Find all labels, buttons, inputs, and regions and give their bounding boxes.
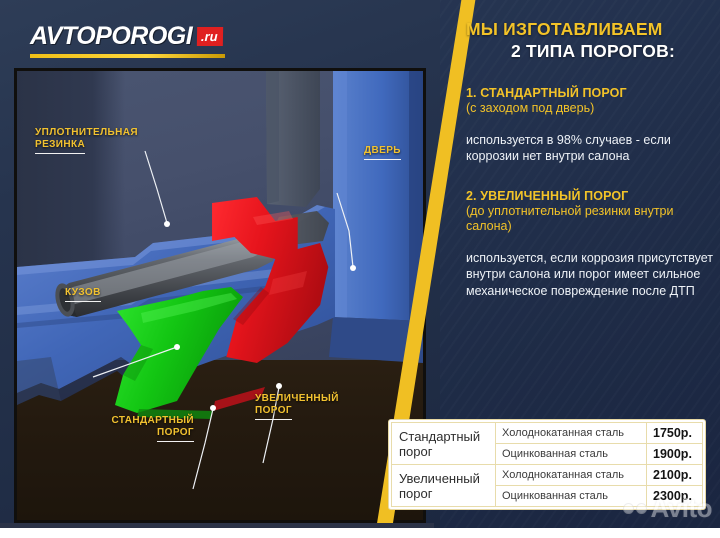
section-extended-title: 2. УВЕЛИЧЕННЫЙ ПОРОГ [466, 189, 720, 203]
brand-logo[interactable]: AVTOPOROGI .ru [30, 22, 225, 58]
logo-wordmark: AVTOPOROGI [30, 22, 192, 51]
price-steel-3: Оцинкованная сталь [496, 486, 647, 507]
price-table: Стандартный порог Холоднокатанная сталь … [391, 422, 703, 507]
price-value-3: 2300р. [647, 486, 703, 507]
label-standard-sill: СТАНДАРТНЫЙ ПОРОГ [79, 415, 194, 523]
section-standard: 1. СТАНДАРТНЫЙ ПОРОГ (с заходом под двер… [466, 86, 720, 165]
price-type-standard: Стандартный порог [392, 423, 496, 465]
section-extended: 2. УВЕЛИЧЕННЫЙ ПОРОГ (до уплотнительной … [466, 189, 720, 300]
price-type-extended: Увеличенный порог [392, 465, 496, 507]
label-extended-sill-line2: ПОРОГ [255, 405, 292, 420]
price-steel-0: Холоднокатанная сталь [496, 423, 647, 444]
label-body-text: КУЗОВ [65, 287, 101, 302]
section-standard-subtitle: (с заходом под дверь) [466, 101, 720, 117]
illustration-panel: AVTOPOROGI .ru [0, 0, 440, 538]
section-extended-body: используется, если коррозия присутствует… [466, 250, 720, 300]
label-extended-sill: УВЕЛИЧЕННЫЙ ПОРОГ [255, 393, 339, 420]
panel-heading-line1: МЫ ИЗГОТАВЛИВАЕМ [466, 19, 663, 39]
panel-heading: МЫ ИЗГОТАВЛИВАЕМ 2 ТИПА ПОРОГОВ: [466, 18, 720, 62]
diagram-frame: УПЛОТНИТЕЛЬНАЯ РЕЗИНКА КУЗОВ ДВЕРЬ СТАНД… [14, 68, 426, 523]
table-row: Стандартный порог Холоднокатанная сталь … [392, 423, 703, 444]
section-standard-title: 1. СТАНДАРТНЫЙ ПОРОГ [466, 86, 720, 100]
label-seal-rubber-line2: РЕЗИНКА [35, 139, 85, 154]
label-seal-rubber: УПЛОТНИТЕЛЬНАЯ РЕЗИНКА [35, 127, 138, 154]
label-standard-sill-line2: ПОРОГ [157, 427, 194, 442]
label-door-text: ДВЕРЬ [364, 145, 401, 160]
label-extended-sill-line1: УВЕЛИЧЕННЫЙ [255, 393, 339, 404]
price-steel-2: Холоднокатанная сталь [496, 465, 647, 486]
table-row: Увеличенный порог Холоднокатанная сталь … [392, 465, 703, 486]
section-extended-subtitle: (до уплотнительной резинки внутри салона… [466, 204, 720, 235]
poster-root: AVTOPOROGI .ru [0, 0, 720, 538]
logo-underline-bar [30, 54, 225, 58]
label-body: КУЗОВ [65, 287, 101, 302]
price-table-wrapper: Стандартный порог Холоднокатанная сталь … [388, 419, 706, 510]
price-value-1: 1900р. [647, 444, 703, 465]
label-door: ДВЕРЬ [364, 145, 401, 160]
price-steel-1: Оцинкованная сталь [496, 444, 647, 465]
label-seal-rubber-line1: УПЛОТНИТЕЛЬНАЯ [35, 127, 138, 138]
logo-row: AVTOPOROGI .ru [30, 22, 225, 51]
price-value-0: 1750р. [647, 423, 703, 444]
label-standard-sill-line1: СТАНДАРТНЫЙ [112, 415, 195, 426]
logo-tld-badge: .ru [197, 27, 223, 46]
diagram-canvas: УПЛОТНИТЕЛЬНАЯ РЕЗИНКА КУЗОВ ДВЕРЬ СТАНД… [17, 71, 423, 520]
price-value-2: 2100р. [647, 465, 703, 486]
bottom-dark-edge [0, 523, 434, 528]
section-standard-body: используется в 98% случаев - если корроз… [466, 132, 720, 165]
panel-heading-line2: 2 ТИПА ПОРОГОВ: [466, 40, 720, 62]
bottom-white-strip [0, 528, 720, 538]
